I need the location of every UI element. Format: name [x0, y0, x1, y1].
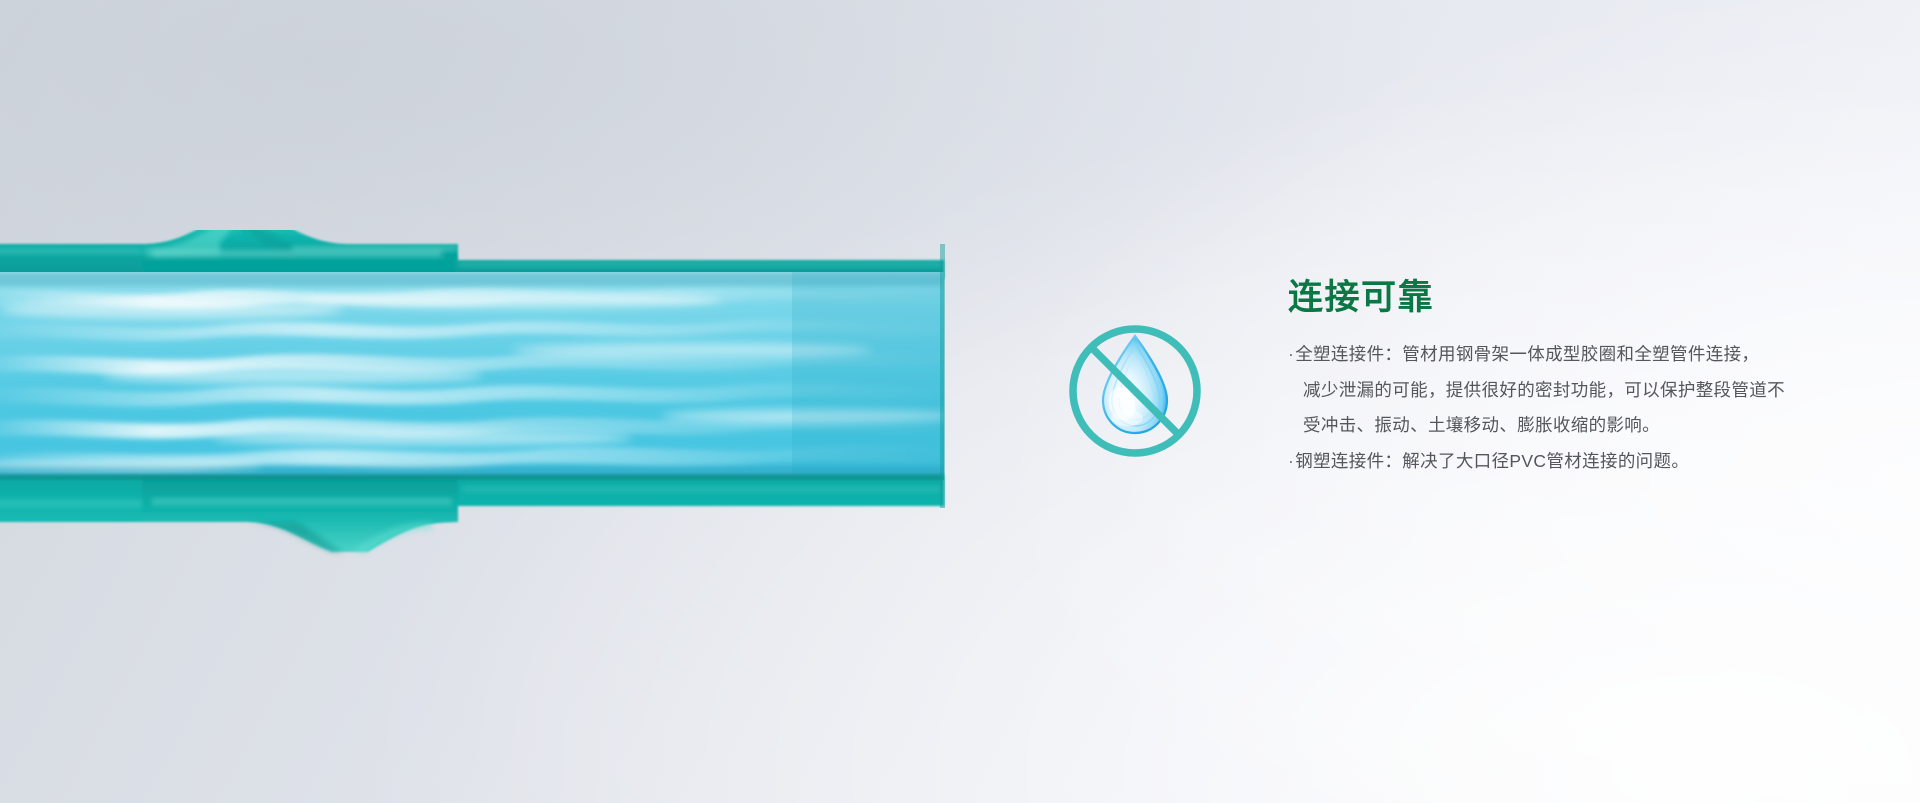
bullet-line: ·钢塑连接件：解决了大口径PVC管材连接的问题。	[1288, 444, 1848, 480]
pipe-top-shell	[0, 230, 944, 279]
bullet-line: 减少泄漏的可能，提供很好的密封功能，可以保护整段管道不	[1288, 373, 1848, 409]
list-item: ·全塑连接件：管材用钢骨架一体成型胶圈和全塑管件连接， 减少泄漏的可能，提供很好…	[1288, 337, 1848, 444]
pipe-cut-edge	[940, 244, 945, 508]
bullet-mark: ·	[1288, 451, 1294, 471]
bullet-line: ·全塑连接件：管材用钢骨架一体成型胶圈和全塑管件连接，	[1288, 337, 1848, 373]
pipe-water-flow	[0, 272, 952, 482]
list-item: ·钢塑连接件：解决了大口径PVC管材连接的问题。	[1288, 444, 1848, 480]
pipe-bottom-shell	[0, 474, 944, 554]
bullet-text: 全塑连接件：管材用钢骨架一体成型胶圈和全塑管件连接，	[1295, 344, 1759, 364]
page-stage: 连接可靠 ·全塑连接件：管材用钢骨架一体成型胶圈和全塑管件连接， 减少泄漏的可能…	[0, 0, 1920, 803]
no-leak-icon	[1060, 316, 1210, 466]
bullet-line: 受冲击、振动、土壤移动、膨胀收缩的影响。	[1288, 408, 1848, 444]
feature-text-column: 连接可靠 ·全塑连接件：管材用钢骨架一体成型胶圈和全塑管件连接， 减少泄漏的可能…	[1288, 278, 1848, 479]
page-title: 连接可靠	[1288, 278, 1848, 317]
bullet-text: 钢塑连接件：解决了大口径PVC管材连接的问题。	[1295, 451, 1689, 471]
feature-bullet-list: ·全塑连接件：管材用钢骨架一体成型胶圈和全塑管件连接， 减少泄漏的可能，提供很好…	[1288, 337, 1848, 479]
bullet-mark: ·	[1288, 344, 1294, 364]
pipe-illustration	[0, 230, 952, 570]
